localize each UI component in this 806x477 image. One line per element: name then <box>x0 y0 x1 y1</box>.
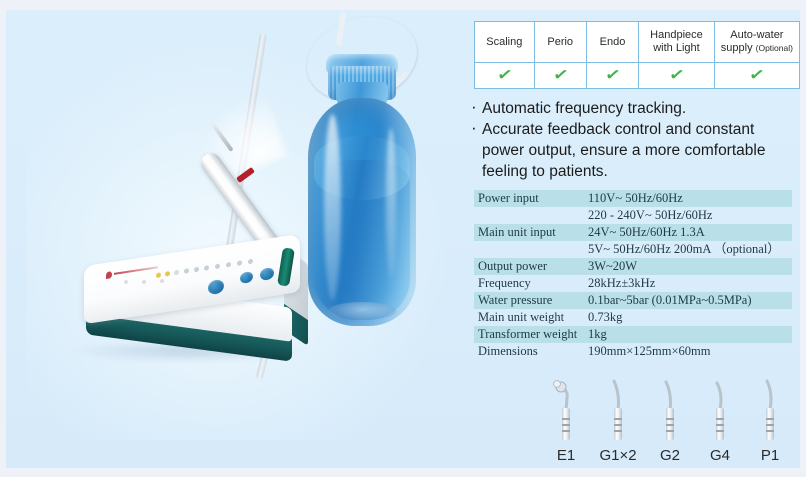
spec-key: Transformer weight <box>474 326 584 343</box>
feature-header-perio: Perio <box>534 22 586 63</box>
spec-value: 5V~ 50Hz/60Hz 200mA （optional） <box>584 241 792 258</box>
feature-table: Scaling Perio Endo Handpiece with Light … <box>474 21 800 89</box>
spec-value: 3W~20W <box>584 258 792 275</box>
feature-check-scaling: ✓ <box>475 63 535 89</box>
specification-table: Power input 110V~ 50Hz/60Hz 220 - 240V~ … <box>474 190 792 360</box>
tip-ring <box>614 418 622 420</box>
tip-ring <box>666 424 674 426</box>
spec-key <box>474 207 584 224</box>
table-row: Power input 110V~ 50Hz/60Hz <box>474 190 792 207</box>
feature-check-handpiece-with-light: ✓ <box>639 63 715 89</box>
table-row: Main unit weight 0.73kg <box>474 309 792 326</box>
spec-value: 1kg <box>584 326 792 343</box>
optional-note: (Optional) <box>756 43 793 53</box>
spec-key: Water pressure <box>474 292 584 309</box>
spec-value: 28kHz±3kHz <box>584 275 792 292</box>
feature-check-endo: ✓ <box>586 63 638 89</box>
spec-key: Frequency <box>474 275 584 292</box>
tip-ring <box>716 424 724 426</box>
list-item: Automatic frequency tracking. <box>468 98 798 119</box>
spec-value: 24V~ 50Hz/60Hz 1.3A <box>584 224 792 241</box>
main-control-unit <box>84 250 314 365</box>
tip-label: G1×2 <box>596 447 640 464</box>
table-row: Frequency 28kHz±3kHz <box>474 275 792 292</box>
tip-item-p1: P1 <box>748 378 792 464</box>
spec-panel: Scaling Perio Endo Handpiece with Light … <box>466 10 800 468</box>
tip-item-g2: G2 <box>648 378 692 464</box>
spec-key: Output power <box>474 258 584 275</box>
check-icon: ✓ <box>604 67 622 85</box>
tip-label: G2 <box>648 447 692 464</box>
spec-key: Main unit input <box>474 224 584 241</box>
feature-header-handpiece-with-light: Handpiece with Light <box>639 22 715 63</box>
feature-table-check-row: ✓ ✓ ✓ ✓ ✓ <box>475 63 800 89</box>
table-row: Transformer weight 1kg <box>474 326 792 343</box>
feature-check-auto-water-supply: ✓ <box>714 63 799 89</box>
feature-check-perio: ✓ <box>534 63 586 89</box>
spec-key: Main unit weight <box>474 309 584 326</box>
tip-ring <box>562 424 570 426</box>
tip-ring <box>766 418 774 420</box>
tip-label: G4 <box>698 447 742 464</box>
table-row: Dimensions 190mm×125mm×60mm <box>474 343 792 360</box>
table-row: 5V~ 50Hz/60Hz 200mA （optional） <box>474 241 792 258</box>
tip-label: E1 <box>544 447 588 464</box>
scaler-tips-gallery: E1 G1×2 <box>544 378 794 464</box>
tip-ring <box>716 418 724 420</box>
tip-ring <box>666 418 674 420</box>
tip-item-g4: G4 <box>698 378 742 464</box>
tip-ring <box>716 430 724 432</box>
tip-ring <box>562 418 570 420</box>
list-item: Accurate feedback control and constant p… <box>468 119 798 182</box>
spec-key <box>474 241 584 258</box>
table-row: Output power 3W~20W <box>474 258 792 275</box>
tip-label: P1 <box>748 447 792 464</box>
spec-value: 0.73kg <box>584 309 792 326</box>
feature-header-auto-water-supply: Auto-water supply (Optional) <box>714 22 799 63</box>
table-row: Water pressure 0.1bar~5bar (0.01MPa~0.5M… <box>474 292 792 309</box>
bottle-highlight-right <box>386 128 396 278</box>
spec-value: 190mm×125mm×60mm <box>584 343 792 360</box>
check-icon: ✓ <box>551 67 569 85</box>
spec-value: 110V~ 50Hz/60Hz <box>584 190 792 207</box>
tip-ring <box>666 430 674 432</box>
feature-header-scaling: Scaling <box>475 22 535 63</box>
tip-item-e1: E1 <box>544 378 588 464</box>
feature-table-header-row: Scaling Perio Endo Handpiece with Light … <box>475 22 800 63</box>
tip-ring <box>614 424 622 426</box>
table-row: 220 - 240V~ 50Hz/60Hz <box>474 207 792 224</box>
tip-ring <box>614 430 622 432</box>
tip-ring <box>766 424 774 426</box>
spec-value: 220 - 240V~ 50Hz/60Hz <box>584 207 792 224</box>
check-icon: ✓ <box>668 67 686 85</box>
spec-key: Power input <box>474 190 584 207</box>
feature-header-endo: Endo <box>586 22 638 63</box>
check-icon: ✓ <box>748 67 766 85</box>
table-row: Main unit input 24V~ 50Hz/60Hz 1.3A <box>474 224 792 241</box>
spec-key: Dimensions <box>474 343 584 360</box>
product-spec-page: Scaling Perio Endo Handpiece with Light … <box>6 10 800 468</box>
tip-ring <box>766 430 774 432</box>
product-photo <box>6 10 466 468</box>
feature-bullet-list: Automatic frequency tracking. Accurate f… <box>468 98 798 182</box>
tip-item-g1x2: G1×2 <box>596 378 640 464</box>
tip-ring <box>562 430 570 432</box>
check-icon: ✓ <box>495 67 513 85</box>
spec-value: 0.1bar~5bar (0.01MPa~0.5MPa) <box>584 292 792 309</box>
